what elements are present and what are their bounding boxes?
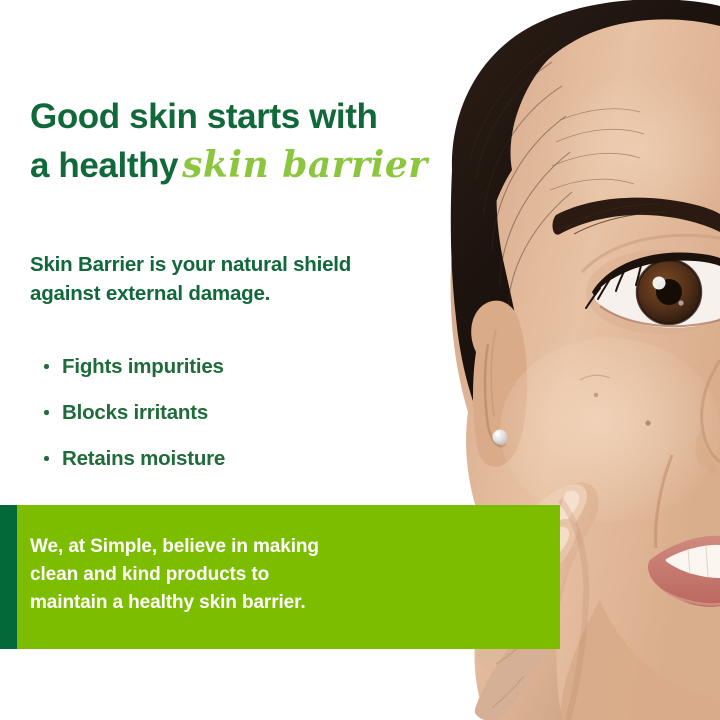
page-title: Good skin starts with a healthyskin barr…	[30, 92, 450, 190]
benefit-label: Blocks irritants	[62, 401, 208, 424]
jawline	[560, 600, 720, 720]
brand-statement-text: We, at Simple, believe in making clean a…	[30, 533, 430, 617]
benefit-label: Retains moisture	[62, 447, 225, 470]
ear-inner	[485, 344, 506, 446]
pupil	[656, 279, 682, 305]
headline-line-2-plain: a healthy	[30, 146, 178, 185]
ear	[471, 301, 527, 467]
upper-lash-line	[592, 253, 720, 296]
benefit-label: Fights impurities	[62, 355, 224, 378]
teeth-gaps	[688, 546, 708, 577]
nostril-shadow	[696, 430, 720, 476]
lips	[648, 536, 720, 607]
hair-mass	[451, 0, 720, 424]
headline-line-1: Good skin starts with	[30, 97, 377, 136]
eyebrow	[553, 198, 720, 235]
subcopy-line-2: against external damage.	[30, 282, 270, 305]
nasolabial-fold	[656, 455, 672, 548]
iris	[637, 260, 701, 324]
bullet-dot-icon	[44, 410, 49, 415]
eyelashes	[586, 261, 642, 308]
teeth	[666, 545, 720, 578]
promo-canvas: Good skin starts with a healthyskin barr…	[0, 0, 720, 720]
eye-white	[592, 255, 720, 328]
lower-lash-line	[600, 306, 720, 326]
hair-strands	[470, 44, 572, 320]
pearl-earring	[493, 430, 508, 445]
nose-edge	[702, 360, 720, 462]
headline-script-accent: skin barrier	[178, 144, 428, 186]
banner-accent-edge	[0, 505, 17, 649]
subcopy: Skin Barrier is your natural shield agai…	[30, 250, 430, 308]
banner-line-3: maintain a healthy skin barrier.	[30, 589, 430, 617]
list-item: Fights impurities	[44, 355, 424, 379]
benefits-list: Fights impurities Blocks irritants Retai…	[44, 355, 424, 493]
lower-lip-highlight	[664, 592, 720, 605]
beauty-mark	[594, 393, 598, 397]
eyelid-crease	[582, 235, 720, 272]
bullet-dot-icon	[44, 364, 49, 369]
list-item: Retains moisture	[44, 447, 424, 471]
subcopy-line-1: Skin Barrier is your natural shield	[30, 253, 351, 276]
hairline-wisps	[462, 0, 720, 362]
banner-line-1: We, at Simple, believe in making	[30, 533, 430, 561]
eye-catchlight	[653, 277, 666, 290]
bullet-dot-icon	[44, 456, 49, 461]
baby-hairs	[550, 109, 644, 190]
cheek-highlight	[500, 338, 720, 522]
beauty-mark	[645, 420, 650, 425]
banner-line-2: clean and kind products to	[30, 561, 430, 589]
list-item: Blocks irritants	[44, 401, 424, 425]
